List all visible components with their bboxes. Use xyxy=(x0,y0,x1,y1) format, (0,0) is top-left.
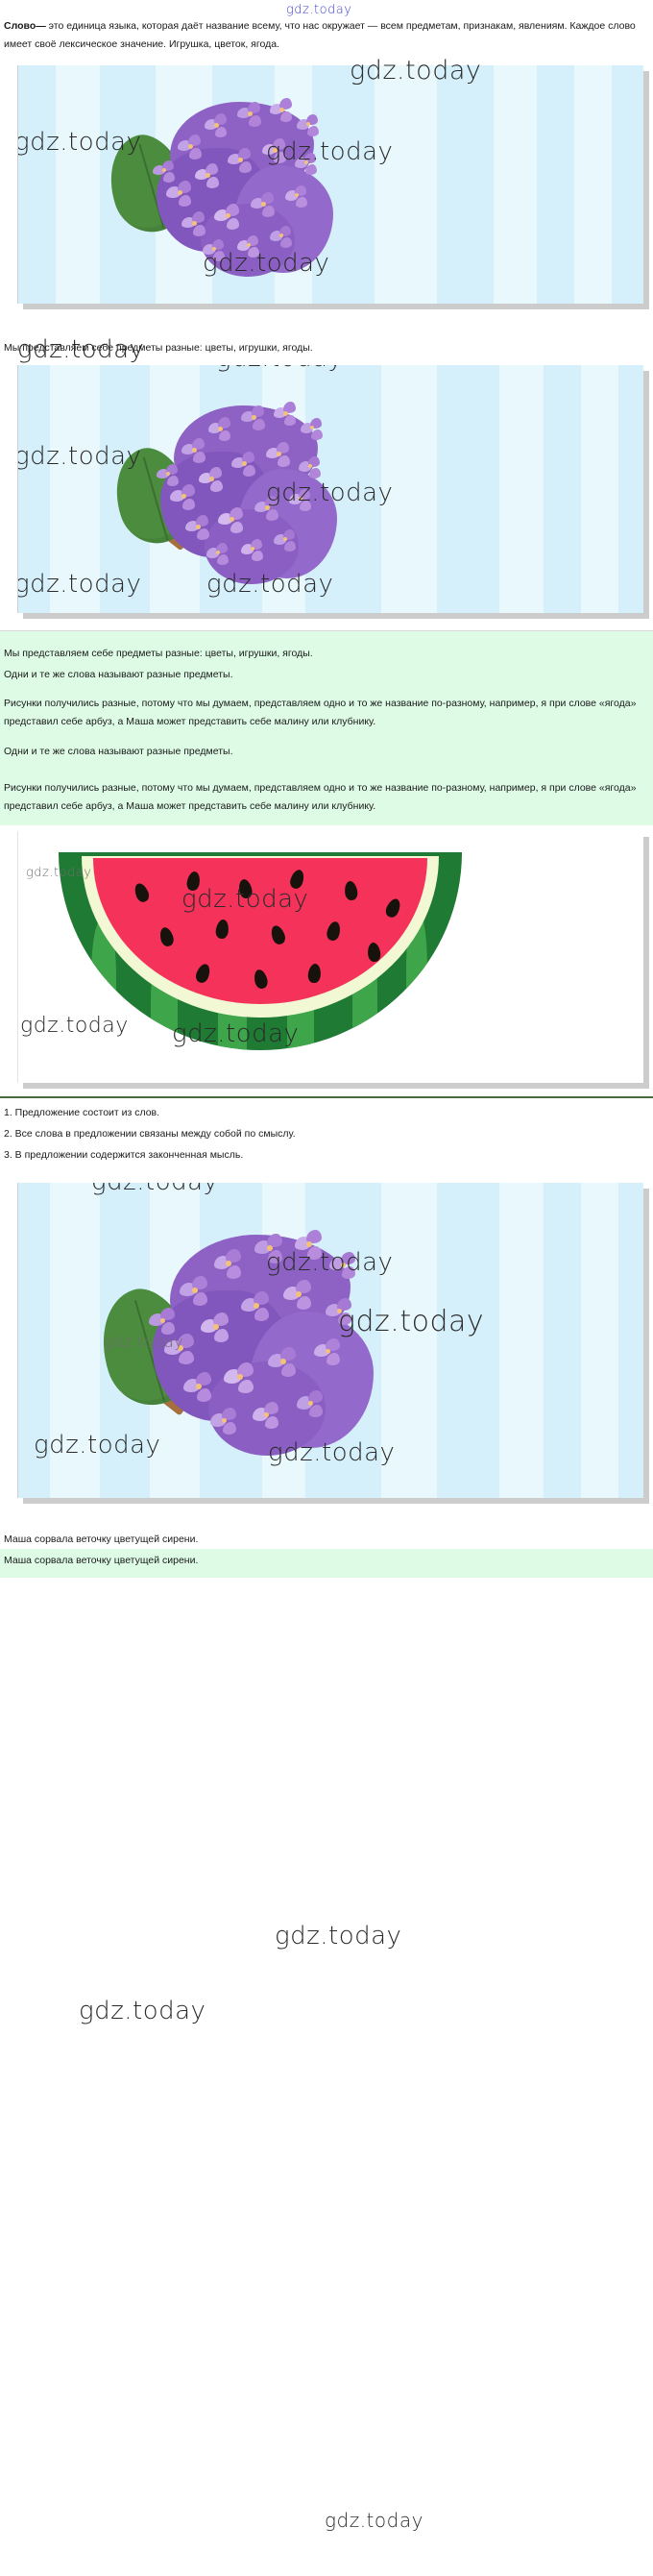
sky-stripe xyxy=(581,365,618,613)
document-page: gdz.today Слово— это единица языка, кото… xyxy=(0,0,653,1578)
sky-stripe xyxy=(56,65,100,304)
melon-seed xyxy=(344,880,359,901)
watermark-logo-rules-bottom: gdz.today xyxy=(79,1997,206,2025)
melon-seed xyxy=(253,969,269,991)
sky-stripe xyxy=(381,365,438,613)
rules-list: 1. Предложение состоит из слов. 2. Все с… xyxy=(0,1102,653,1165)
lilac-branch-figure-1: gdz.today gdz.today gdz.today xyxy=(17,65,643,304)
watermark-logo-rules-right: gdz.today xyxy=(275,1922,401,1950)
rule-item: 2. Все слова в предложении связаны между… xyxy=(4,1123,649,1144)
rule-item: 3. В предложении содержится законченная … xyxy=(4,1144,649,1165)
sky-stripe xyxy=(499,1183,544,1498)
melon-seed xyxy=(383,896,402,920)
melon-seed xyxy=(326,920,342,943)
melon-seed xyxy=(288,868,306,890)
lilac-cluster xyxy=(145,98,337,281)
watermelon-figure: gdz.today gdz.today gdz.today gdz.today xyxy=(17,831,643,1083)
caption-text: Маша сорвала веточку цветущей сирени. xyxy=(4,1552,649,1570)
figure-3-wrapper: gdz.today gdz.today gdz.today gdz.today xyxy=(0,831,653,1091)
melon-seed xyxy=(215,919,230,940)
melon-seed xyxy=(367,942,381,962)
lilac-branch-figure-2: gdz.today gdz.today gdz.today gdz.today … xyxy=(17,365,643,613)
answer-block-2: Одни и те же слова называют разные предм… xyxy=(0,741,653,825)
answer-line: Мы представляем себе предметы разные: цв… xyxy=(4,645,649,663)
answer-block-1: Мы представляем себе предметы разные: цв… xyxy=(0,631,653,741)
answer-line: Рисунки получились разные, потому что мы… xyxy=(4,695,649,731)
melon-seed xyxy=(194,962,212,984)
sky-stripe xyxy=(381,1183,438,1498)
sky-stripe xyxy=(50,365,100,613)
answer-line: Одни и те же слова называют разные предм… xyxy=(4,666,649,684)
sky-stripe xyxy=(574,65,612,304)
sky-stripe xyxy=(494,65,538,304)
lilac-branch-figure-3: gdz.today gdz.today gdz.today gdz.today xyxy=(17,1183,643,1498)
caption-text: Мы представляем себе предметы разные: цв… xyxy=(4,339,649,357)
intro-body: это единица языка, которая даёт название… xyxy=(4,20,636,50)
caption-after-figure-1: Мы представляем себе предметы разные: цв… xyxy=(0,315,653,357)
melon-seed xyxy=(157,926,175,948)
sky-stripe xyxy=(581,1183,618,1498)
melon-seed xyxy=(185,871,201,892)
bottom-caption-green: Маша сорвала веточку цветущей сирени. xyxy=(0,1549,653,1578)
melon-seed xyxy=(133,881,152,903)
rule-item: 1. Предложение состоит из слов. xyxy=(4,1102,649,1123)
figure-4-wrapper: gdz.today gdz.today gdz.today gdz.today xyxy=(0,1183,653,1506)
lilac-cluster xyxy=(139,1229,379,1460)
intro-dash: — xyxy=(36,20,46,32)
bottom-caption-plain: Маша сорвала веточку цветущей сирени. xyxy=(0,1509,653,1549)
intro-paragraph: Слово— это единица языка, которая даёт н… xyxy=(0,0,653,54)
melon-seed xyxy=(307,963,322,983)
caption-text: Маша сорвала веточку цветущей сирени. xyxy=(4,1531,649,1549)
sky-stripe xyxy=(50,1183,100,1498)
watermark-logo-bottom: gdz.today xyxy=(325,2509,423,2532)
figure-1-wrapper: gdz.today gdz.today gdz.today xyxy=(0,65,653,311)
sky-stripe xyxy=(375,65,437,304)
figure-2-wrapper: gdz.today gdz.today gdz.today gdz.today … xyxy=(0,365,653,621)
section-divider xyxy=(0,1096,653,1098)
answer-line: Одни и те же слова называют разные предм… xyxy=(4,743,649,761)
answer-line: Рисунки получились разные, потому что мы… xyxy=(4,779,649,816)
sky-stripe xyxy=(499,365,544,613)
melon-seed xyxy=(269,923,287,945)
watermelon-graphic xyxy=(59,852,462,1062)
intro-lead-word: Слово xyxy=(4,20,36,32)
lilac-cluster xyxy=(149,402,341,586)
melon-seed xyxy=(237,878,254,899)
